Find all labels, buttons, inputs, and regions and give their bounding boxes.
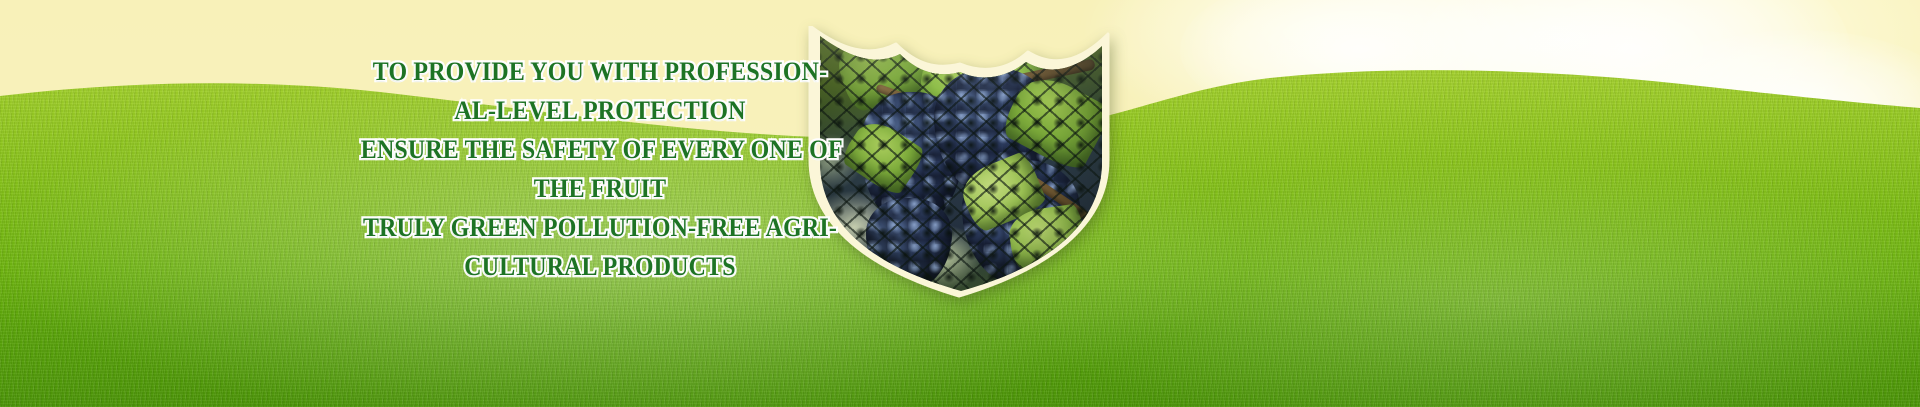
headline-line-6: CULTURAL PRODUCTS [361,247,839,286]
headline-line-4: THE FRUIT [361,169,839,208]
headline-line-3: ENSURE THE SAFETY OF EVERY ONE OF [361,130,839,169]
headline-line-2: AL-LEVEL PROTECTION [361,91,839,130]
headline-text-block: TO PROVIDE YOU WITH PROFESSION- AL-LEVEL… [340,52,860,286]
headline-line-5: TRULY GREEN POLLUTION-FREE AGRI- [361,208,839,247]
headline-line-1: TO PROVIDE YOU WITH PROFESSION- [361,52,839,91]
promotional-banner: TO PROVIDE YOU WITH PROFESSION- AL-LEVEL… [0,0,1920,407]
